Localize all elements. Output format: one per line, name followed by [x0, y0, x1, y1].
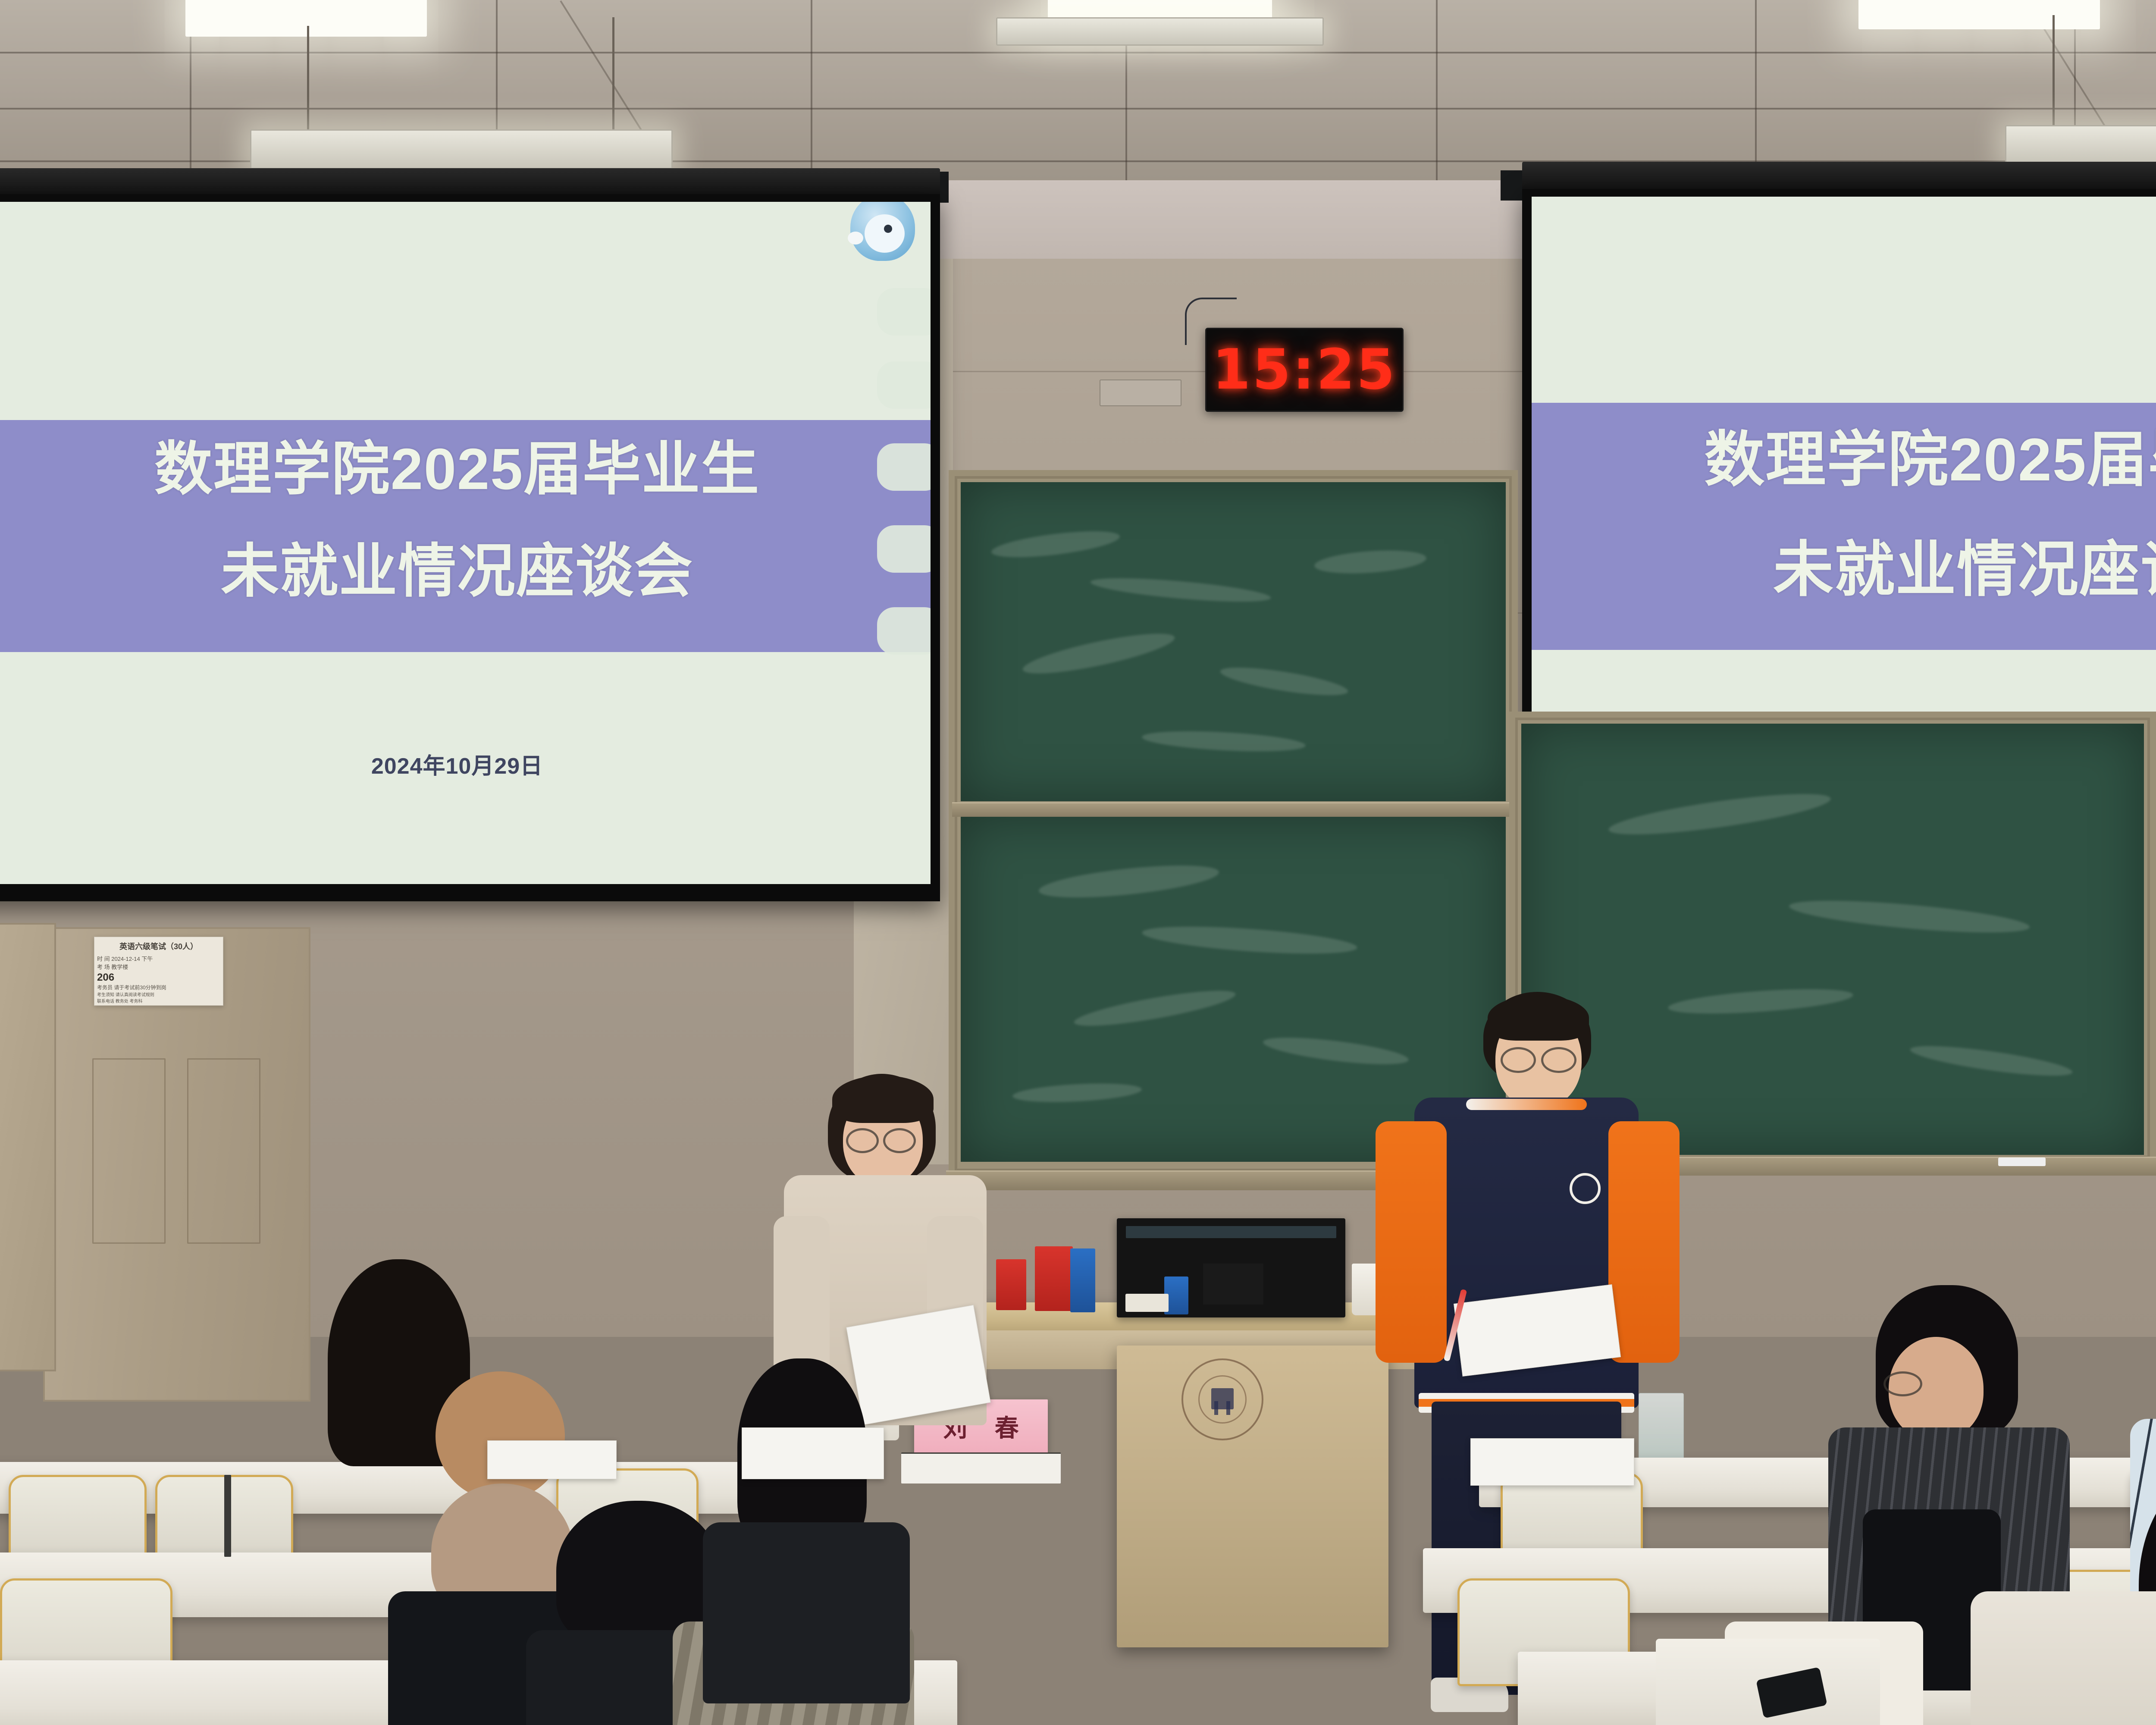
- hanging-light-fixture: [996, 17, 1324, 46]
- blackboard-panel-top: [961, 482, 1506, 801]
- chalk-piece: [1998, 1157, 2046, 1166]
- lecture-hall-photo: 数理学院2025届毕业生 未就业情况座谈会 2024年10月29日: [0, 0, 2156, 1725]
- seat[interactable]: [9, 1475, 147, 1561]
- blue-tissue-box: [1070, 1248, 1095, 1312]
- exam-notice-left: 英语六级笔试（30人） 时 间 2024-12-14 下午 考 场 教学楼 20…: [94, 937, 223, 1006]
- hair-fringe: [1488, 995, 1589, 1041]
- slide-title-line1: 数理学院2025届毕业生: [1532, 423, 2156, 497]
- notice-line: 联系电话 教务处 考务科: [97, 997, 220, 1004]
- university-ding-emblem-icon: [1181, 1358, 1263, 1440]
- jacket-collar-stripe: [1466, 1099, 1587, 1110]
- slide-deco-column: [857, 202, 931, 884]
- hanging-light-fixture: [2005, 125, 2156, 163]
- hair-fringe: [832, 1076, 934, 1123]
- red-tissue-box: [1035, 1246, 1073, 1311]
- audience-member: [711, 1358, 884, 1626]
- jacket-logo-icon: [1570, 1173, 1601, 1204]
- slide-title-line2: 未就业情况座谈会: [0, 536, 931, 607]
- glasses-icon: [1501, 1047, 1536, 1073]
- clock-mount-bracket: [1100, 379, 1181, 406]
- left-projection-screen: 数理学院2025届毕业生 未就业情况座谈会 2024年10月29日: [0, 185, 940, 919]
- open-notebook: [742, 1427, 884, 1479]
- wall-cabinet-left: [0, 923, 56, 1371]
- notice-title: 英语六级笔试（30人）: [97, 941, 220, 952]
- notice-line: 时 间 2024-12-14 下午: [97, 954, 220, 963]
- slide-left: 数理学院2025届毕业生 未就业情况座谈会 2024年10月29日: [0, 202, 931, 884]
- slide-title-line2: 未就业情况座谈会: [1532, 533, 2156, 607]
- notice-line: 考生须知 请认真阅读考试规则: [97, 991, 220, 997]
- glasses-icon: [1541, 1047, 1576, 1073]
- lectern-podium: [1117, 1345, 1388, 1647]
- chalk-tray: [952, 802, 1526, 817]
- slide-date: 2024年10月29日: [0, 748, 931, 780]
- glasses-icon: [883, 1128, 916, 1153]
- notice-room-number: 206: [97, 972, 220, 984]
- seat-divider: [224, 1475, 231, 1557]
- desk-paper-stack: [1125, 1294, 1169, 1312]
- notice-line: 考务员 请于考试前30分钟到岗: [97, 984, 220, 991]
- slide-title-line1: 数理学院2025届毕业生: [0, 434, 931, 505]
- clock-time-display: 15:25: [1212, 338, 1396, 402]
- digital-wall-clock: 15:25: [1205, 328, 1404, 412]
- ceiling-light-panel: [185, 0, 427, 37]
- audience-member: [1971, 1565, 2156, 1725]
- hanging-light-fixture: [250, 129, 673, 169]
- open-notebook: [487, 1440, 617, 1479]
- glasses-icon: [846, 1128, 879, 1153]
- jacket-sleeve-right: [1608, 1121, 1680, 1363]
- document-page: [1470, 1438, 1634, 1486]
- notice-line: 考 场 教学楼: [97, 963, 220, 971]
- jacket-sleeve-left: [1376, 1121, 1447, 1363]
- monitor-stand: [1203, 1264, 1263, 1305]
- ceiling-light-panel: [1858, 0, 2100, 29]
